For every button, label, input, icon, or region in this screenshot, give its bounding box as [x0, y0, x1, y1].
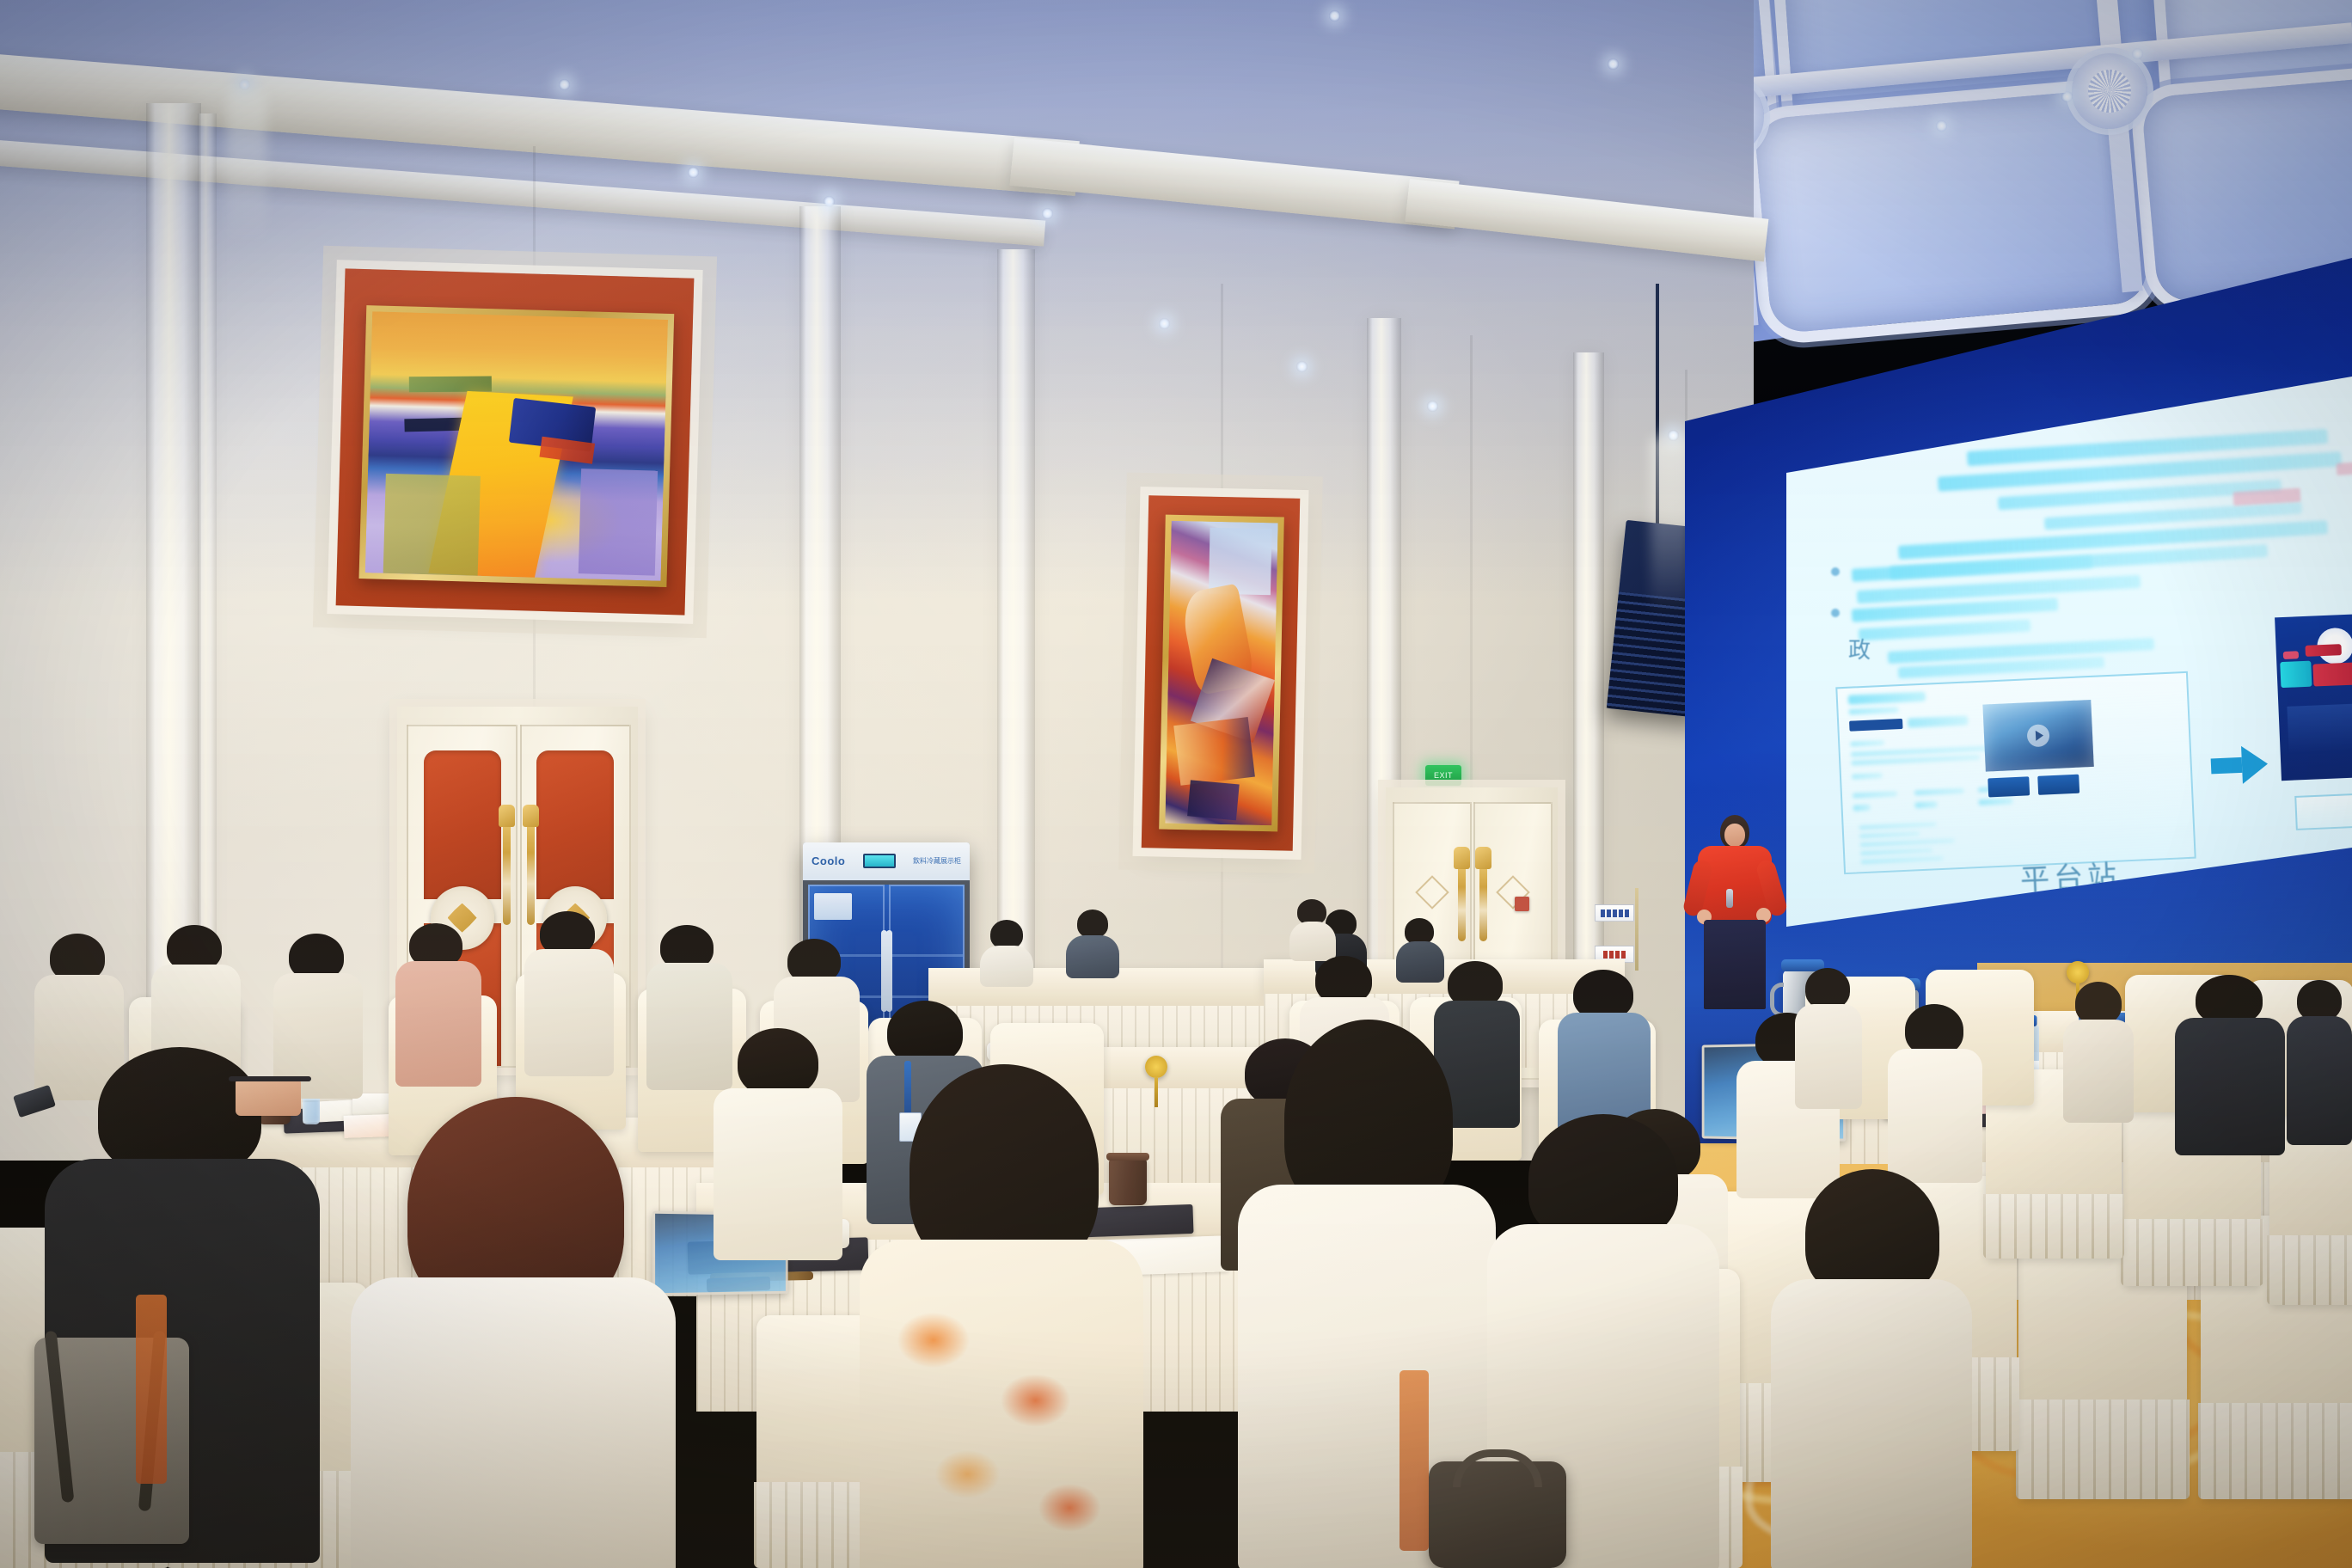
audience-member-foreground [860, 1064, 1143, 1568]
ceiling-downlight [1042, 208, 1053, 219]
ceiling-downlight [1329, 10, 1340, 21]
art-wall-panel [1142, 495, 1301, 851]
ceiling-downlight [1159, 318, 1170, 329]
audience-member [1289, 899, 1336, 956]
audience-member [2287, 980, 2352, 1135]
fridge-tag-label: 飲料冷藏展示柜 [913, 856, 961, 866]
painting-frame [1159, 515, 1284, 832]
ceiling-downlight [559, 79, 570, 90]
painting-landscape [365, 311, 668, 580]
door-handle[interactable] [527, 822, 535, 925]
chair-back-accent [136, 1295, 167, 1484]
slide-flow-arrow [2210, 745, 2269, 786]
slide-caption-box [2294, 793, 2352, 830]
ceiling-downlight [1608, 58, 1619, 70]
presenter-on-stage [1683, 815, 1786, 987]
wall-switch-plate[interactable] [1515, 897, 1529, 911]
ceiling-downlight [2132, 48, 2143, 59]
audience-member [980, 920, 1033, 980]
art-wall-panel [336, 268, 695, 615]
slide-thumbnail-photo [1982, 700, 2093, 772]
fridge-brand-label: Coolo [812, 854, 845, 867]
face [236, 1078, 301, 1116]
slide-cta-button [1988, 776, 2030, 797]
fridge-control-panel: Coolo 飲料冷藏展示柜 [803, 842, 970, 880]
wall-light-cone [1651, 438, 1690, 619]
handheld-microphone [1726, 889, 1733, 908]
ceiling-downlight [1427, 401, 1438, 412]
audience-member [1066, 910, 1119, 973]
audience-member [2063, 982, 2134, 1111]
audience-member-foreground [1771, 1169, 1972, 1568]
ceiling-medallion [2072, 53, 2147, 129]
slide-cjk-fragment: 政 [1848, 633, 1875, 665]
door-handle[interactable] [1479, 864, 1487, 941]
table-number-stand [2067, 961, 2089, 983]
door-handle[interactable] [503, 822, 511, 925]
projection-screen: 政 [1786, 377, 2352, 927]
slide-screenshot-left [1835, 671, 2196, 874]
slide-cta-button [2037, 775, 2079, 795]
ceiling-downlight [688, 167, 699, 178]
eyeglasses [229, 1076, 311, 1081]
wall-sign-upper [1595, 904, 1634, 922]
audience-member [2175, 975, 2285, 1147]
door-panel [536, 750, 614, 900]
fridge-sticker [814, 893, 852, 921]
door-panel [424, 750, 501, 900]
exit-sign: EXIT [1425, 765, 1461, 786]
conference-hall-scene: EXIT Coolo 飲料冷藏展示柜 [0, 0, 2352, 1568]
door-handle[interactable] [1458, 864, 1466, 941]
ceiling-downlight [1296, 361, 1308, 372]
audience-member [524, 911, 614, 1066]
fridge-temperature-display [863, 854, 896, 868]
table-number-stand [1145, 1056, 1167, 1078]
audience-member [1795, 968, 1862, 1097]
chair-back-accent [1400, 1370, 1429, 1551]
wall-sign-rail [1635, 888, 1638, 971]
ceiling-downlight [824, 196, 835, 207]
door-diamond-motif [1415, 876, 1449, 910]
slide-tag-chip [1849, 719, 1902, 732]
audience-member [714, 1028, 842, 1252]
painting-vertical [1165, 521, 1277, 826]
ceiling-downlight [1936, 120, 1947, 132]
painting-frame [358, 305, 674, 587]
audience-member [395, 923, 481, 1078]
audience-member [1888, 1004, 1982, 1176]
exit-sign-label: EXIT [1434, 771, 1453, 780]
ceiling-coffer [1754, 87, 2149, 334]
ceiling-downlight [2061, 91, 2073, 102]
backpack-strap [45, 1331, 75, 1503]
slide-screenshot-right [2275, 614, 2352, 781]
wall-light-cone [227, 89, 266, 244]
audience-member-foreground [351, 1097, 676, 1568]
